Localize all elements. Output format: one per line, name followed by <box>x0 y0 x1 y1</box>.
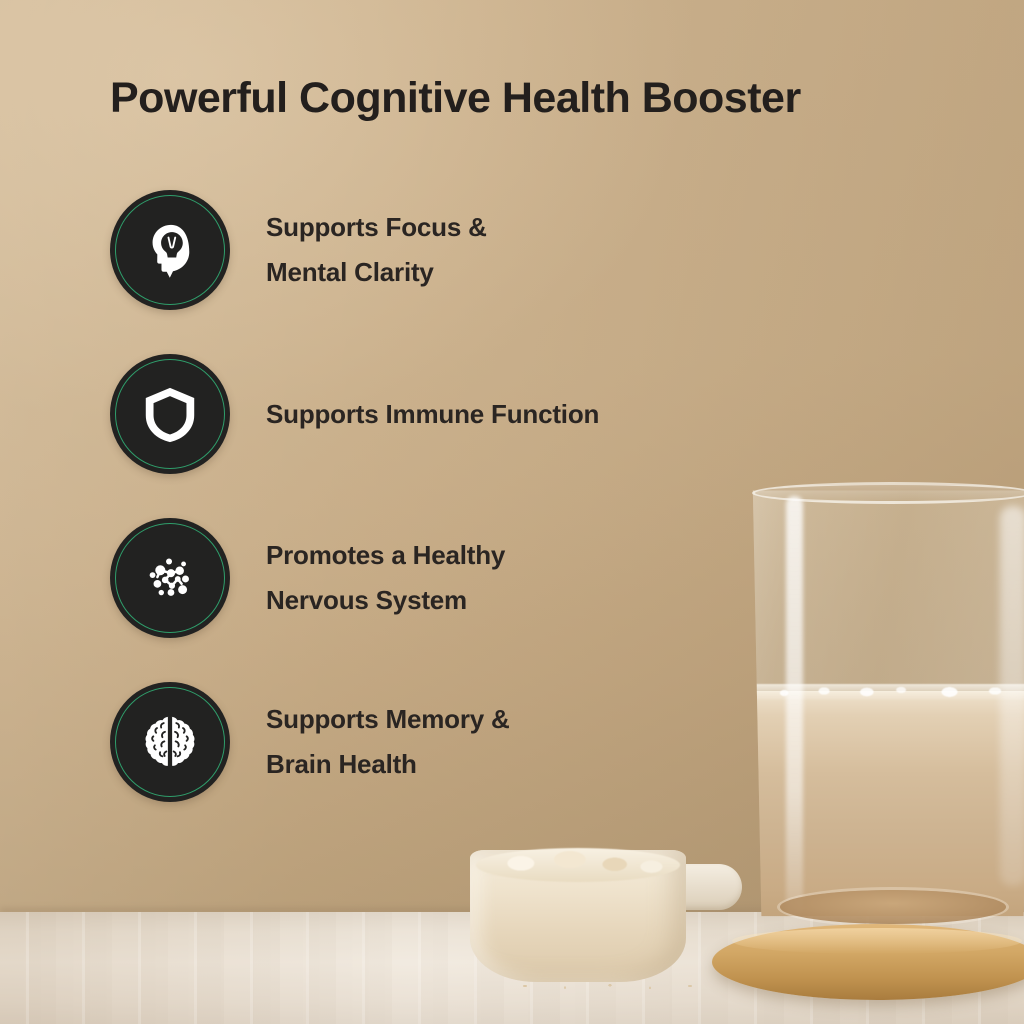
shield-icon <box>139 383 201 445</box>
badge-nervous <box>110 518 230 638</box>
feature-item-focus: Supports Focus & Mental Clarity <box>110 190 810 310</box>
feature-label-immune: Supports Immune Function <box>266 392 599 437</box>
feature-item-memory: Supports Memory & Brain Health <box>110 682 810 802</box>
feature-line-1: Supports Memory & <box>266 697 510 742</box>
feature-label-nervous: Promotes a Healthy Nervous System <box>266 533 505 622</box>
feature-line-1: Supports Focus & <box>266 205 487 250</box>
feature-line-2: Nervous System <box>266 578 505 623</box>
head-lightbulb-icon <box>139 219 201 281</box>
feature-line-2: Mental Clarity <box>266 250 487 295</box>
feature-line-2: Brain Health <box>266 742 510 787</box>
feature-item-immune: Supports Immune Function <box>110 354 810 474</box>
page-title: Powerful Cognitive Health Booster <box>110 74 801 123</box>
neuron-network-icon <box>139 547 201 609</box>
brain-icon <box>139 711 201 773</box>
feature-item-nervous: Promotes a Healthy Nervous System <box>110 518 810 638</box>
badge-focus <box>110 190 230 310</box>
feature-line-1: Supports Immune Function <box>266 392 599 437</box>
infographic-content: Powerful Cognitive Health Booster Suppor… <box>0 0 1024 1024</box>
feature-label-memory: Supports Memory & Brain Health <box>266 697 510 786</box>
badge-memory <box>110 682 230 802</box>
feature-line-1: Promotes a Healthy <box>266 533 505 578</box>
feature-list: Supports Focus & Mental Clarity Supports… <box>110 190 810 802</box>
badge-immune <box>110 354 230 474</box>
feature-label-focus: Supports Focus & Mental Clarity <box>266 205 487 294</box>
